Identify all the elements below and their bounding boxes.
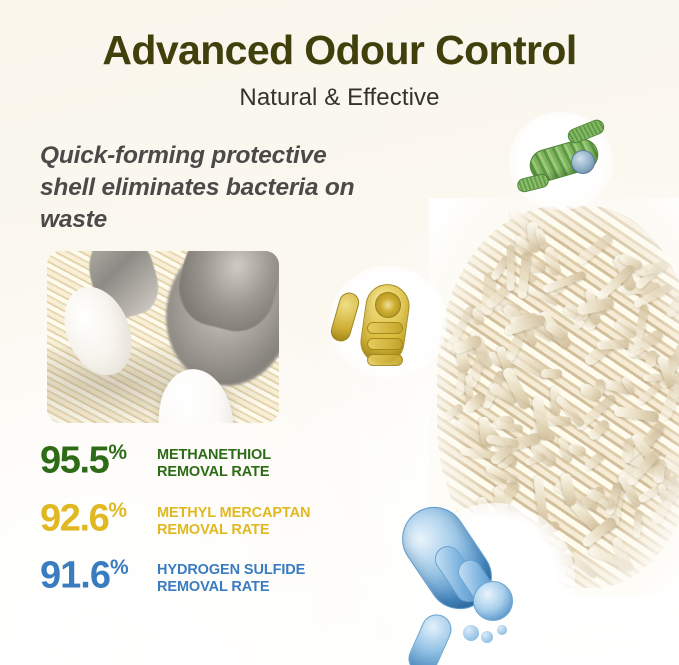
stat-row: 92.6% METHYL MERCAPTAN REMOVAL RATE — [40, 501, 370, 540]
stat-number: 91.6 — [40, 555, 110, 597]
stat-number: 95.5 — [40, 440, 108, 482]
yellow-bacteria-icon — [329, 266, 447, 378]
green-bacteria-icon — [509, 112, 613, 210]
stat-value: 91.6% — [40, 558, 152, 594]
yellow-band-1 — [367, 322, 403, 334]
stat-percent-symbol: % — [108, 441, 127, 464]
infographic-root: Advanced Odour Control Natural & Effecti… — [0, 0, 679, 665]
stat-label: METHANETHIOL REMOVAL RATE — [157, 443, 271, 482]
green-nucleus — [571, 150, 595, 174]
stat-number: 92.6 — [40, 497, 108, 539]
blue-dot-3 — [497, 625, 507, 635]
blue-dot-1 — [463, 625, 479, 641]
yellow-organelle — [375, 292, 401, 318]
stat-row: 91.6% HYDROGEN SULFIDE REMOVAL RATE — [40, 558, 370, 597]
page-title: Advanced Odour Control — [0, 27, 679, 74]
blue-bacteria-icon — [415, 503, 575, 655]
stat-percent-symbol: % — [110, 556, 129, 579]
feature-headline: Quick-forming protective shell eliminate… — [40, 140, 380, 236]
stat-value: 95.5% — [40, 443, 152, 479]
stat-percent-symbol: % — [108, 499, 127, 522]
stat-value: 92.6% — [40, 501, 152, 537]
stat-label: METHYL MERCAPTAN REMOVAL RATE — [157, 501, 310, 540]
yellow-band-2 — [367, 338, 403, 350]
yellow-band-3 — [367, 354, 403, 366]
odour-removal-stats: 95.5% METHANETHIOL REMOVAL RATE 92.6% ME… — [40, 443, 370, 616]
cat-paws-photo — [47, 251, 279, 423]
blue-dot-2 — [481, 631, 493, 643]
stat-label: HYDROGEN SULFIDE REMOVAL RATE — [157, 558, 305, 597]
stat-row: 95.5% METHANETHIOL REMOVAL RATE — [40, 443, 370, 482]
blue-nucleus — [473, 581, 513, 621]
page-subtitle: Natural & Effective — [0, 84, 679, 112]
